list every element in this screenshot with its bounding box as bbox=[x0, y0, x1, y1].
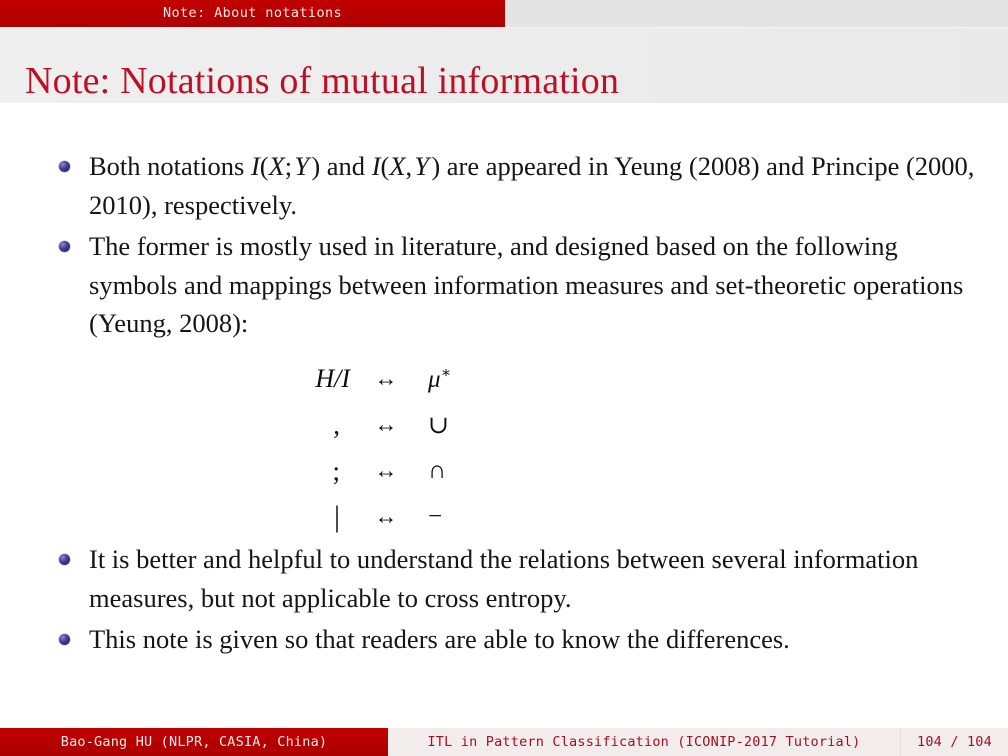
bullet-list: Both notations I(X; Y ) and I(X, Y ) are… bbox=[56, 147, 986, 346]
title-band: Note: Notations of mutual information bbox=[0, 27, 1008, 104]
table-row: | ↔ − bbox=[246, 494, 484, 540]
list-item-note-given: This note is given so that readers are a… bbox=[56, 620, 986, 659]
list-item-text: The former is mostly used in literature,… bbox=[89, 231, 963, 338]
mapping-left-symbol: , bbox=[246, 402, 350, 448]
footer-page-number: 104 / 104 bbox=[900, 728, 1008, 756]
bullet-point-icon bbox=[59, 241, 70, 252]
mapping-right-symbol: − bbox=[422, 494, 484, 540]
footer-author: Bao-Gang HU (NLPR, CASIA, China) bbox=[0, 728, 388, 756]
table-row: ; ↔ ∩ bbox=[246, 448, 484, 494]
list-item-text: This note is given so that readers are a… bbox=[89, 624, 790, 654]
slide-body: Both notations I(X; Y ) and I(X, Y ) are… bbox=[0, 103, 1008, 728]
mapping-arrow-icon: ↔ bbox=[350, 356, 422, 402]
footer-talk-title: ITL in Pattern Classification (ICONIP-20… bbox=[388, 728, 900, 756]
top-navigation-bar: Note: About notations bbox=[0, 0, 1008, 27]
table-row: H/I ↔ μ∗ bbox=[246, 356, 484, 402]
mapping-right-symbol: ∪ bbox=[422, 402, 484, 448]
list-item-former-usage: The former is mostly used in literature,… bbox=[56, 227, 986, 343]
mapping-arrow-icon: ↔ bbox=[350, 494, 422, 540]
list-item-better-helpful: It is better and helpful to understand t… bbox=[56, 540, 986, 617]
nav-section-label: Note: About notations bbox=[0, 0, 505, 27]
bullet-point-icon bbox=[59, 554, 70, 565]
symbol-mapping-table: H/I ↔ μ∗ , ↔ ∪ ; ↔ ∩ | ↔ − bbox=[246, 356, 484, 540]
mapping-right-symbol: μ∗ bbox=[422, 356, 484, 402]
footer-bar: Bao-Gang HU (NLPR, CASIA, China) ITL in … bbox=[0, 728, 1008, 756]
mapping-arrow-icon: ↔ bbox=[350, 448, 422, 494]
table-row: , ↔ ∪ bbox=[246, 402, 484, 448]
mapping-arrow-icon: ↔ bbox=[350, 402, 422, 448]
list-item-notations: Both notations I(X; Y ) and I(X, Y ) are… bbox=[56, 147, 986, 224]
mapping-left-symbol: H/I bbox=[246, 356, 350, 402]
mapping-left-symbol: | bbox=[246, 494, 350, 540]
bullet-point-icon bbox=[59, 634, 70, 645]
list-item-text: It is better and helpful to understand t… bbox=[89, 544, 918, 613]
mapping-right-symbol: ∩ bbox=[422, 448, 484, 494]
page-title: Note: Notations of mutual information bbox=[25, 59, 619, 103]
mapping-left-symbol: ; bbox=[246, 448, 350, 494]
list-item-text: Both notations I(X; Y ) and I(X, Y ) are… bbox=[89, 151, 974, 220]
bullet-point-icon bbox=[59, 161, 70, 172]
bullet-list-lower: It is better and helpful to understand t… bbox=[56, 540, 986, 662]
